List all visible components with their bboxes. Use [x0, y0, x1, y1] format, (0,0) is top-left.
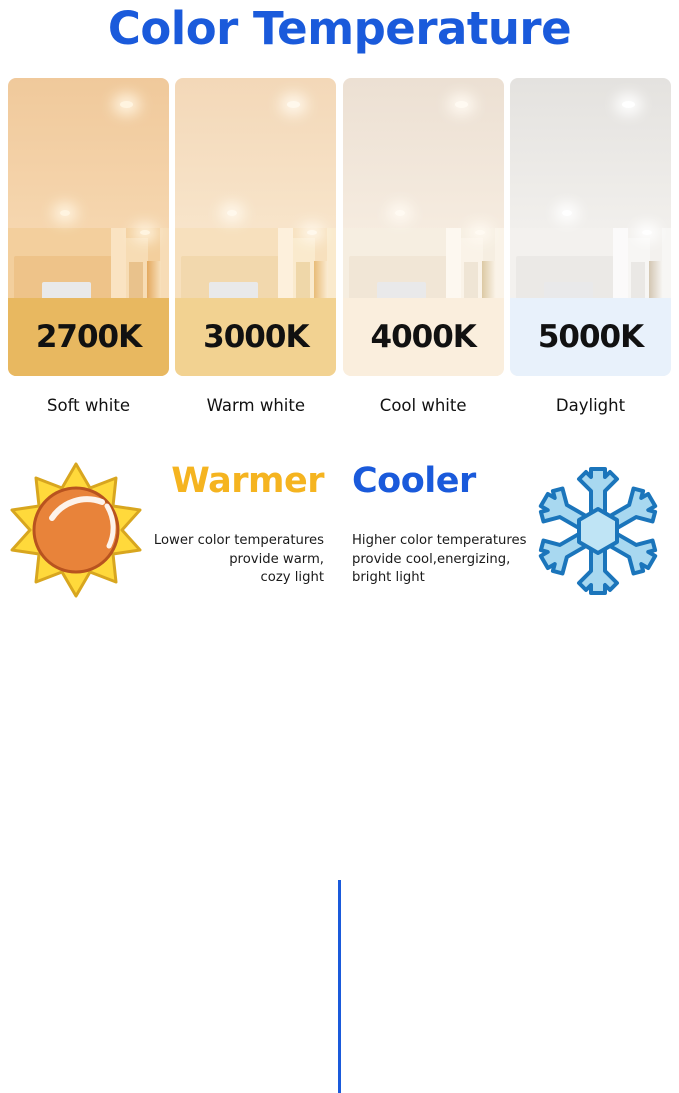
recessed-light-icon: [642, 230, 652, 235]
warmer-half: Warmer Lower color temperatures provide …: [0, 440, 338, 653]
page-title: Color Temperature: [0, 2, 679, 55]
temperature-panel-5000k[interactable]: 5000K: [510, 78, 671, 376]
recessed-light-icon: [622, 101, 635, 108]
recessed-light-icon: [475, 230, 485, 235]
recessed-light-icon: [60, 210, 70, 216]
caption-soft-white: Soft white: [8, 396, 169, 415]
temperature-panel-2700k[interactable]: 2700K: [8, 78, 169, 376]
temperature-panel-3000k[interactable]: 3000K: [175, 78, 336, 376]
cooler-half: Cooler Higher color temperatures provide…: [341, 440, 679, 653]
caption-cool-white: Cool white: [343, 396, 504, 415]
ceiling: [8, 78, 169, 236]
kelvin-value: 4000K: [371, 319, 476, 355]
kelvin-value: 3000K: [203, 319, 308, 355]
ceiling: [175, 78, 336, 236]
kelvin-value: 5000K: [538, 319, 643, 355]
comparison-section: Warmer Lower color temperatures provide …: [0, 440, 679, 653]
snowflake-icon: [525, 458, 671, 604]
recessed-light-icon: [140, 230, 150, 235]
kelvin-band: 3000K: [175, 298, 336, 376]
recessed-light-icon: [395, 210, 405, 216]
temperature-panel-4000k[interactable]: 4000K: [343, 78, 504, 376]
kelvin-band: 2700K: [8, 298, 169, 376]
kelvin-band: 5000K: [510, 298, 671, 376]
section-divider: [338, 880, 341, 1093]
cooler-heading: Cooler: [352, 464, 476, 499]
recessed-light-icon: [455, 101, 468, 108]
warmer-heading: Warmer: [171, 464, 324, 499]
warmer-description: Lower color temperatures provide warm, c…: [124, 532, 324, 588]
color-temperature-panel-row: 2700K 3000K: [8, 78, 671, 376]
ceiling: [510, 78, 671, 236]
caption-daylight: Daylight: [510, 396, 671, 415]
recessed-light-icon: [562, 210, 572, 216]
caption-warm-white: Warm white: [175, 396, 336, 415]
panel-caption-row: Soft white Warm white Cool white Dayligh…: [8, 396, 671, 415]
recessed-light-icon: [120, 101, 133, 108]
kelvin-value: 2700K: [36, 319, 141, 355]
ceiling: [343, 78, 504, 236]
kelvin-band: 4000K: [343, 298, 504, 376]
